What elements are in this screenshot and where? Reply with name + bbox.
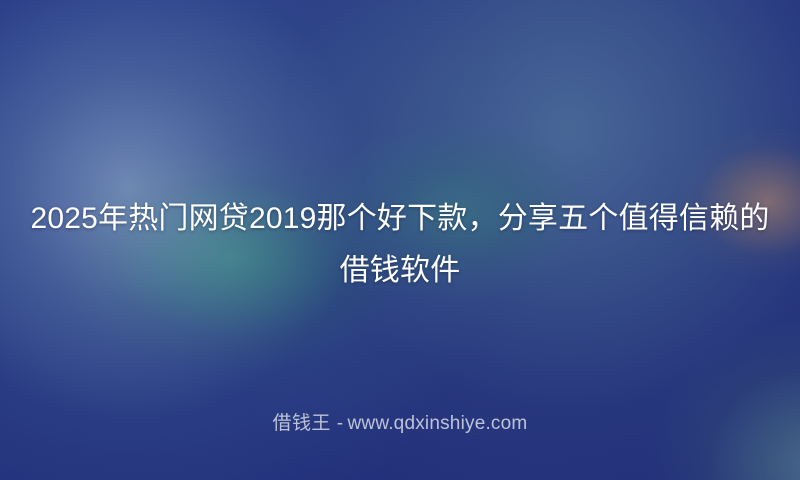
watermark-separator: - [337,413,344,434]
watermark-url: www.qdxinshiye.com [347,413,527,434]
cover-image-canvas: 2025年热门网贷2019那个好下款，分享五个值得信赖的借钱软件 借钱王-www… [0,0,800,480]
watermark-brand: 借钱王 [273,413,331,434]
watermark: 借钱王-www.qdxinshiye.com [0,408,800,435]
headline-title: 2025年热门网贷2019那个好下款，分享五个值得信赖的借钱软件 [0,193,800,297]
